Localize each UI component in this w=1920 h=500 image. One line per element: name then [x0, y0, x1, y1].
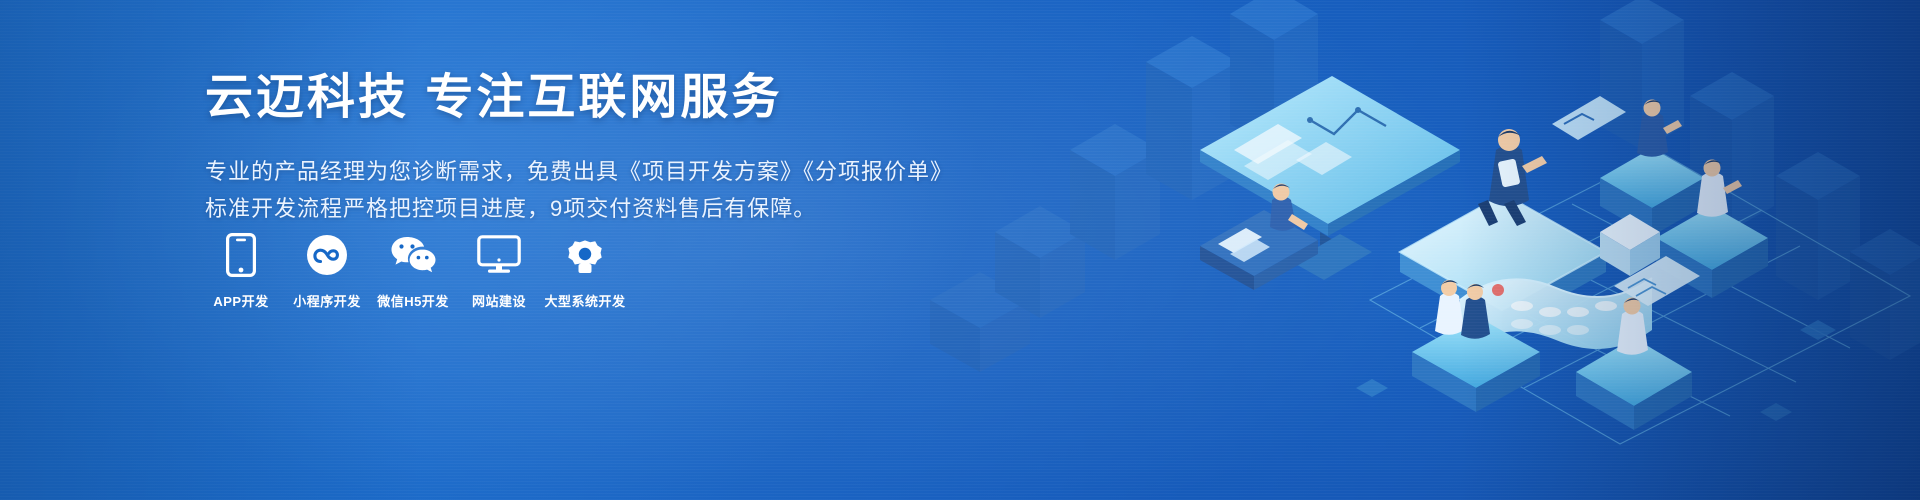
hero-copy: 云迈科技 专注互联网服务 专业的产品经理为您诊断需求，免费出具《项目开发方案》《… [205, 70, 905, 228]
background-blocks [930, 0, 1920, 372]
service-label: 微信H5开发 [377, 291, 449, 310]
hero-subtitle: 专业的产品经理为您诊断需求，免费出具《项目开发方案》《分项报价单》 标准开发流程… [205, 153, 905, 229]
service-list: APP开发 小程序开发 微信 [205, 232, 621, 310]
service-label: 小程序开发 [293, 291, 361, 310]
page-title: 云迈科技 专注互联网服务 [205, 70, 905, 127]
service-label: 大型系统开发 [545, 291, 626, 310]
mobile-phone-icon [218, 232, 264, 278]
isometric-illustration [900, 0, 1920, 500]
service-item-large-system[interactable]: 大型系统开发 [549, 232, 621, 310]
service-item-app[interactable]: APP开发 [205, 232, 277, 310]
service-label: APP开发 [213, 291, 268, 310]
service-item-website[interactable]: 网站建设 [463, 232, 535, 310]
mini-program-icon [304, 232, 350, 278]
subtitle-line-2: 标准开发流程严格把控项目进度，9项交付资料售后有保障。 [205, 190, 905, 228]
subtitle-line-1: 专业的产品经理为您诊断需求，免费出具《项目开发方案》《分项报价单》 [205, 153, 905, 191]
hero-banner: 云迈科技 专注互联网服务 专业的产品经理为您诊断需求，免费出具《项目开发方案》《… [0, 0, 1920, 500]
monitor-icon [476, 232, 522, 278]
service-item-wechat-h5[interactable]: 微信H5开发 [377, 232, 449, 310]
service-label: 网站建设 [472, 291, 526, 310]
gear-icon [562, 232, 608, 278]
service-item-mini-program[interactable]: 小程序开发 [291, 232, 363, 310]
wechat-icon [390, 232, 436, 278]
